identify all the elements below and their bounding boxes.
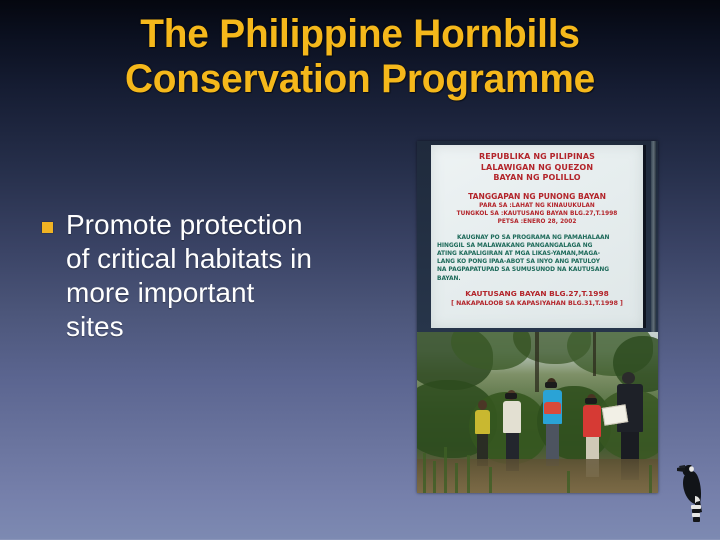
sign-header-line-1: REPUBLIKA NG PILIPINAS — [435, 152, 639, 163]
slide-body: Promote protection of critical habitats … — [42, 208, 392, 344]
sign-footer-subline: [ NAKAPALOOB SA KAPASIYAHAN BLG.31,T.199… — [435, 299, 639, 308]
presentation-slide: The Philippine Hornbills Conservation Pr… — [0, 0, 720, 540]
sign-body-line-1: KAUGNAY PO SA PROGRAMA NG PAMAHALAAN — [437, 234, 637, 242]
bullet-line-1: Promote protection — [66, 208, 312, 242]
square-bullet-icon — [42, 222, 53, 233]
signboard-photo: REPUBLIKA NG PILIPINAS LALAWIGAN NG QUEZ… — [417, 141, 658, 332]
bullet-line-4: sites — [66, 310, 312, 344]
sign-post — [651, 141, 656, 332]
list-item: Promote protection of critical habitats … — [42, 208, 392, 344]
sign-meta-line-3: PETSA :ENERO 28, 2002 — [435, 218, 639, 226]
hornbill-image — [676, 455, 712, 525]
sign-header-line-2: LALAWIGAN NG QUEZON — [435, 163, 639, 174]
bullet-text: Promote protection of critical habitats … — [66, 208, 312, 344]
bullet-line-2: of critical habitats in — [66, 242, 312, 276]
ground — [417, 459, 658, 493]
birdwatchers-photo — [417, 332, 658, 493]
title-line-2: Conservation Programme — [63, 57, 657, 102]
title-line-1: The Philippine Hornbills — [63, 12, 657, 57]
sign-body: KAUGNAY PO SA PROGRAMA NG PAMAHALAAN HIN… — [435, 234, 639, 283]
sign-body-line-5: NA PAGPAPATUPAD SA SUMUSUNOD NA KAUTUSAN… — [437, 266, 637, 274]
sign-meta-line-1: PARA SA :LAHAT NG KINAUUKULAN — [435, 202, 639, 210]
slide-image-composite: REPUBLIKA NG PILIPINAS LALAWIGAN NG QUEZ… — [417, 141, 658, 493]
sign-body-line-6: BAYAN. — [437, 275, 637, 283]
sign-header-line-3: BAYAN NG POLILLO — [435, 173, 639, 184]
sign-body-line-2: HINGGIL SA MALAWAKANG PANGANGALAGA NG — [437, 242, 637, 250]
signboard-panel: REPUBLIKA NG PILIPINAS LALAWIGAN NG QUEZ… — [431, 145, 646, 328]
page-title: The Philippine Hornbills Conservation Pr… — [63, 12, 657, 102]
sign-body-line-4: LANG KO PONG IPAA-ABOT SA INYO ANG PATUL… — [437, 258, 637, 266]
sign-footer-line: KAUTUSANG BAYAN BLG.27,T.1998 — [435, 289, 639, 299]
sign-meta-line-2: TUNGKOL SA :KAUTUSANG BAYAN BLG.27,T.199… — [435, 210, 639, 218]
hornbill-icon — [676, 455, 712, 525]
bullet-line-3: more important — [66, 276, 312, 310]
sign-subheader: TANGGAPAN NG PUNONG BAYAN — [435, 192, 639, 202]
sign-body-line-3: ATING KAPALIGIRAN AT MGA LIKAS-YAMAN,MAG… — [437, 250, 637, 258]
